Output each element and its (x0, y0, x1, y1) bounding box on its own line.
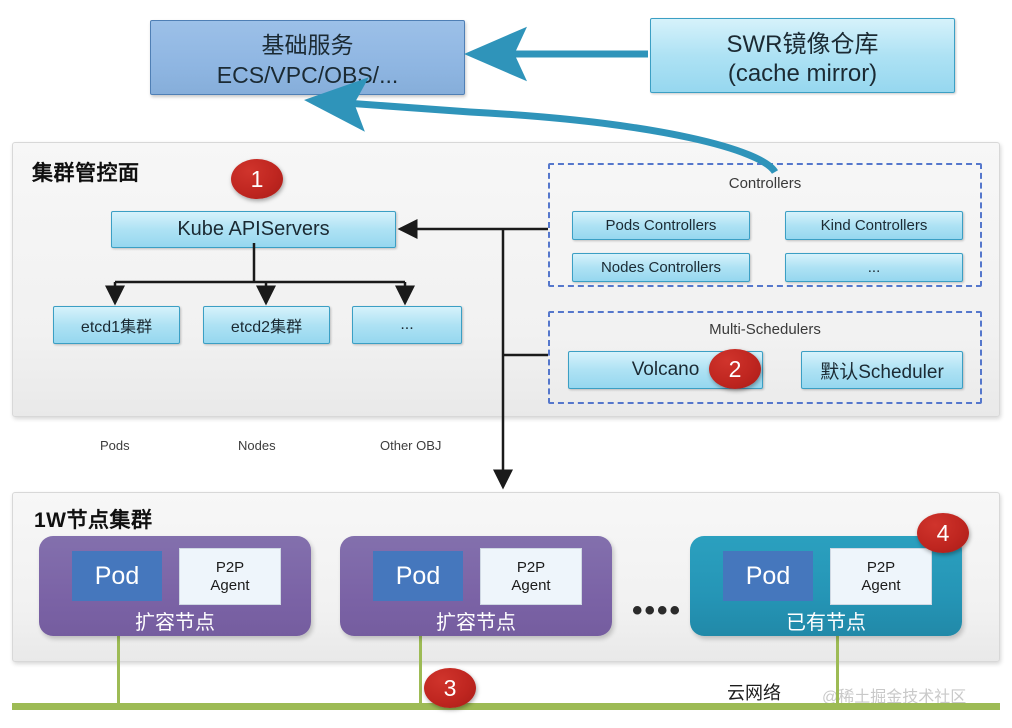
pod-box-2[interactable]: Pod (373, 551, 463, 601)
p2p-agent-box-1[interactable]: P2P Agent (179, 548, 281, 605)
diagram-canvas: 基础服务 ECS/VPC/OBS/... SWR镜像仓库 (cache mirr… (0, 0, 1012, 728)
p2p-agent-label-3a: P2P (867, 559, 895, 576)
etcd-more-label: ... (400, 316, 413, 334)
controllers-group-title: Controllers (550, 175, 980, 192)
p2p-agent-label-2b: Agent (511, 577, 550, 594)
kind-controllers-label: Kind Controllers (821, 217, 928, 234)
kind-controllers-box[interactable]: Kind Controllers (785, 211, 963, 240)
etcd2-label: etcd2集群 (231, 313, 302, 337)
node-name-1: 扩容节点 (39, 606, 311, 635)
controllers-more-box[interactable]: ... (785, 253, 963, 282)
badge-2: 2 (709, 349, 761, 389)
node-card-2[interactable]: Pod P2P Agent 扩容节点 (340, 536, 612, 636)
label-other-obj: Other OBJ (380, 438, 441, 453)
p2p-agent-box-2[interactable]: P2P Agent (480, 548, 582, 605)
swr-registry-subtitle: (cache mirror) (728, 60, 877, 88)
infra-service-subtitle: ECS/VPC/OBS/... (217, 62, 399, 89)
infra-service-box[interactable]: 基础服务 ECS/VPC/OBS/... (150, 20, 465, 95)
node-cluster-title: 1W节点集群 (34, 504, 153, 534)
p2p-agent-box-3[interactable]: P2P Agent (830, 548, 932, 605)
etcd2-box[interactable]: etcd2集群 (203, 306, 330, 344)
pod-box-3[interactable]: Pod (723, 551, 813, 601)
pod-label-3: Pod (746, 562, 790, 591)
volcano-scheduler-label: Volcano (632, 359, 700, 381)
control-plane-title: 集群管控面 (32, 157, 140, 187)
etcd1-box[interactable]: etcd1集群 (53, 306, 180, 344)
node-card-3[interactable]: Pod P2P Agent 已有节点 (690, 536, 962, 636)
p2p-agent-label-2a: P2P (517, 559, 545, 576)
label-nodes: Nodes (238, 438, 276, 453)
pod-box-1[interactable]: Pod (72, 551, 162, 601)
p2p-agent-label-3b: Agent (861, 577, 900, 594)
badge-3: 3 (424, 668, 476, 708)
badge-1: 1 (231, 159, 283, 199)
pod-label-1: Pod (95, 562, 139, 591)
swr-registry-title: SWR镜像仓库 (727, 24, 879, 59)
default-scheduler-label: 默认Scheduler (820, 357, 944, 384)
badge-4: 4 (917, 513, 969, 553)
controllers-more-label: ... (868, 259, 881, 276)
etcd-more-box[interactable]: ... (352, 306, 462, 344)
node-card-1[interactable]: Pod P2P Agent 扩容节点 (39, 536, 311, 636)
nodes-controllers-label: Nodes Controllers (601, 259, 721, 276)
node-name-3: 已有节点 (690, 606, 962, 635)
cloud-network-bus (12, 703, 1000, 710)
pod-label-2: Pod (396, 562, 440, 591)
node-ellipsis: •••• (632, 594, 682, 628)
default-scheduler-box[interactable]: 默认Scheduler (801, 351, 963, 389)
cloud-network-label: 云网络 (727, 679, 781, 705)
infra-service-title: 基础服务 (262, 26, 354, 60)
node-name-2: 扩容节点 (340, 606, 612, 635)
p2p-agent-label-1a: P2P (216, 559, 244, 576)
p2p-agent-label-1b: Agent (210, 577, 249, 594)
label-pods: Pods (100, 438, 130, 453)
kube-apiservers-box[interactable]: Kube APIServers (111, 211, 396, 248)
kube-apiservers-label: Kube APIServers (177, 218, 329, 241)
nodes-controllers-box[interactable]: Nodes Controllers (572, 253, 750, 282)
swr-registry-box[interactable]: SWR镜像仓库 (cache mirror) (650, 18, 955, 93)
pods-controllers-box[interactable]: Pods Controllers (572, 211, 750, 240)
pods-controllers-label: Pods Controllers (606, 217, 717, 234)
schedulers-group-title: Multi-Schedulers (550, 321, 980, 338)
etcd1-label: etcd1集群 (81, 313, 152, 337)
